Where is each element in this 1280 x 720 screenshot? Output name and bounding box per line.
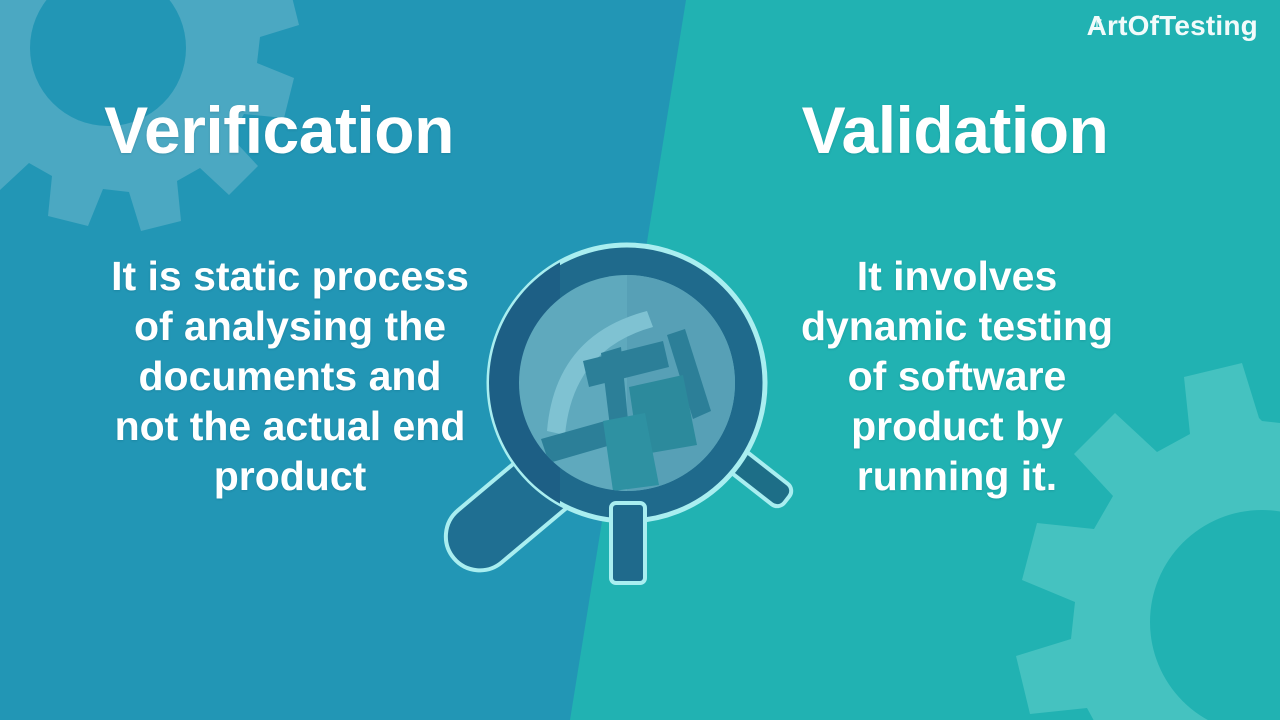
infographic-canvas: ArtOfTesting Verification It is static p… bbox=[0, 0, 1280, 720]
verification-line: of analysing the bbox=[14, 301, 566, 351]
verification-body: It is static process of analysing the do… bbox=[14, 251, 614, 501]
brand-logo[interactable]: ArtOfTesting bbox=[1087, 12, 1258, 40]
logo-text: ArtOfTesting bbox=[1087, 12, 1258, 40]
validation-heading: Validation bbox=[690, 96, 1250, 165]
verification-line: It is static process bbox=[14, 251, 566, 301]
validation-line: dynamic testing bbox=[690, 301, 1224, 351]
flag-icon bbox=[1093, 17, 1102, 28]
verification-line: product bbox=[14, 451, 566, 501]
validation-line: of software bbox=[690, 351, 1224, 401]
validation-body: It involves dynamic testing of software … bbox=[690, 251, 1250, 501]
validation-line: It involves bbox=[690, 251, 1224, 301]
verification-line: documents and bbox=[14, 351, 566, 401]
validation-column: Validation It involves dynamic testing o… bbox=[690, 96, 1250, 501]
validation-line: product by bbox=[690, 401, 1224, 451]
verification-column: Verification It is static process of ana… bbox=[14, 96, 614, 501]
verification-line: not the actual end bbox=[14, 401, 566, 451]
verification-heading: Verification bbox=[14, 96, 614, 165]
validation-line: running it. bbox=[690, 451, 1224, 501]
